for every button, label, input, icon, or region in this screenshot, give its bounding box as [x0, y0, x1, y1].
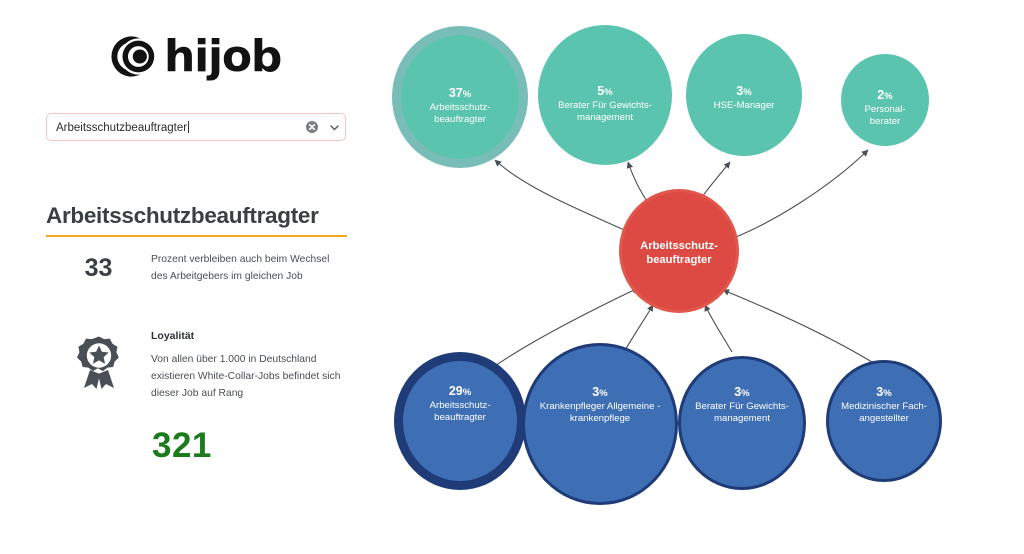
edge-from-bottom-2 [624, 305, 653, 352]
rank-description: Von allen über 1.000 in Deutschland exis… [151, 352, 346, 403]
search-input[interactable]: Arbeitsschutzbeauftragter [46, 113, 346, 141]
stat-loyalty: 33 Prozent verbleiben auch beim Wechsel … [46, 252, 346, 286]
node-label-line2: management [714, 413, 770, 424]
svg-text:5%: 5% [597, 84, 613, 98]
svg-text:29%: 29% [449, 384, 472, 398]
node-top-3[interactable]: 3% HSE-Manager [686, 34, 802, 156]
rank-text-wrap: Loyalität Von allen über 1.000 in Deutsc… [151, 330, 346, 403]
svg-text:3%: 3% [592, 385, 608, 399]
loyalty-label: Loyalität [151, 330, 346, 342]
chevron-down-icon[interactable] [323, 113, 345, 141]
loyalty-value: 33 [85, 256, 113, 286]
node-percent: 29 [449, 384, 463, 398]
node-percent: 2 [877, 88, 884, 102]
loyalty-value-wrap: 33 [46, 252, 151, 286]
loyalty-text-wrap: Prozent verbleiben auch beim Wechsel des… [151, 252, 346, 286]
svg-text:3%: 3% [734, 385, 750, 399]
text-caret [188, 121, 189, 133]
medal-award-icon [74, 334, 124, 390]
node-bottom-4[interactable]: 3% Medizinischer Fach- angestellter [826, 360, 942, 482]
node-percent: 3 [734, 385, 741, 399]
brand-name: hijob [164, 35, 281, 79]
node-label-line2: angestellter [859, 413, 909, 424]
job-transition-diagram: 37% Arbeitsschutz- beauftragter 5% Berat… [372, 0, 1024, 554]
node-percent: 3 [876, 385, 883, 399]
brand-logo[interactable]: hijob [108, 33, 281, 80]
hijob-logo-mark-icon [108, 33, 155, 80]
node-label-line1: Arbeitsschutz- [430, 102, 491, 113]
edge-from-bottom-3 [705, 305, 732, 352]
node-center[interactable]: Arbeitsschutz- beauftragter [619, 189, 739, 313]
rank-value: 321 [152, 426, 212, 466]
node-percent: 3 [736, 84, 743, 98]
node-top-1[interactable]: 37% Arbeitsschutz- beauftragter [392, 26, 528, 168]
search-input-value: Arbeitsschutzbeauftragter [56, 122, 187, 134]
node-label-line1: Personal- [864, 104, 905, 115]
node-label-line2: beauftragter [434, 114, 487, 125]
node-label-line2: management [577, 112, 633, 123]
node-percent: 3 [592, 385, 599, 399]
page-title: Arbeitsschutzbeauftragter [46, 203, 346, 229]
node-label-line2: krankenpflege [570, 413, 630, 424]
node-label-line1: Arbeitsschutz- [430, 400, 491, 411]
svg-text:3%: 3% [736, 84, 752, 98]
node-bottom-1[interactable]: 29% Arbeitsschutz- beauftragter [394, 352, 526, 490]
center-label-line1: Arbeitsschutz- [640, 240, 718, 252]
svg-text:2%: 2% [877, 88, 893, 102]
edge-from-bottom-4 [723, 290, 872, 362]
node-percent: 5 [597, 84, 604, 98]
node-label-line1: HSE-Manager [714, 100, 776, 111]
loyalty-description: Prozent verbleiben auch beim Wechsel des… [151, 252, 346, 286]
node-percent: 37 [449, 86, 463, 100]
node-bottom-3[interactable]: 3% Berater Für Gewichts- management [678, 356, 806, 490]
diagram-svg: 37% Arbeitsschutz- beauftragter 5% Berat… [372, 0, 1024, 554]
svg-text:37%: 37% [449, 86, 472, 100]
rank-icon-wrap [46, 330, 151, 403]
edge-to-top-4 [720, 150, 868, 243]
node-top-4[interactable]: 2% Personal- berater [841, 54, 929, 146]
node-label-line1: Krankenpfleger Allgemeine - [540, 401, 661, 412]
node-top-2[interactable]: 5% Berater Für Gewichts- management [538, 25, 672, 165]
edge-to-top-1 [495, 160, 640, 237]
svg-text:3%: 3% [876, 385, 892, 399]
node-label-line1: Berater Für Gewichts- [558, 100, 652, 111]
left-info-panel: hijob Arbeitsschutzbeauftragter Arbeitss… [0, 0, 372, 554]
title-divider [46, 235, 347, 237]
node-bottom-2[interactable]: 3% Krankenpfleger Allgemeine - krankenpf… [522, 343, 678, 505]
center-label-line2: beauftragter [646, 254, 712, 266]
node-label-line2: beauftragter [434, 412, 487, 423]
clear-circle-icon[interactable] [301, 113, 323, 141]
node-label-line1: Berater Für Gewichts- [695, 401, 789, 412]
node-label-line2: berater [870, 116, 901, 127]
stat-rank: Loyalität Von allen über 1.000 in Deutsc… [46, 330, 346, 403]
node-label-line1: Medizinischer Fach- [841, 401, 927, 412]
